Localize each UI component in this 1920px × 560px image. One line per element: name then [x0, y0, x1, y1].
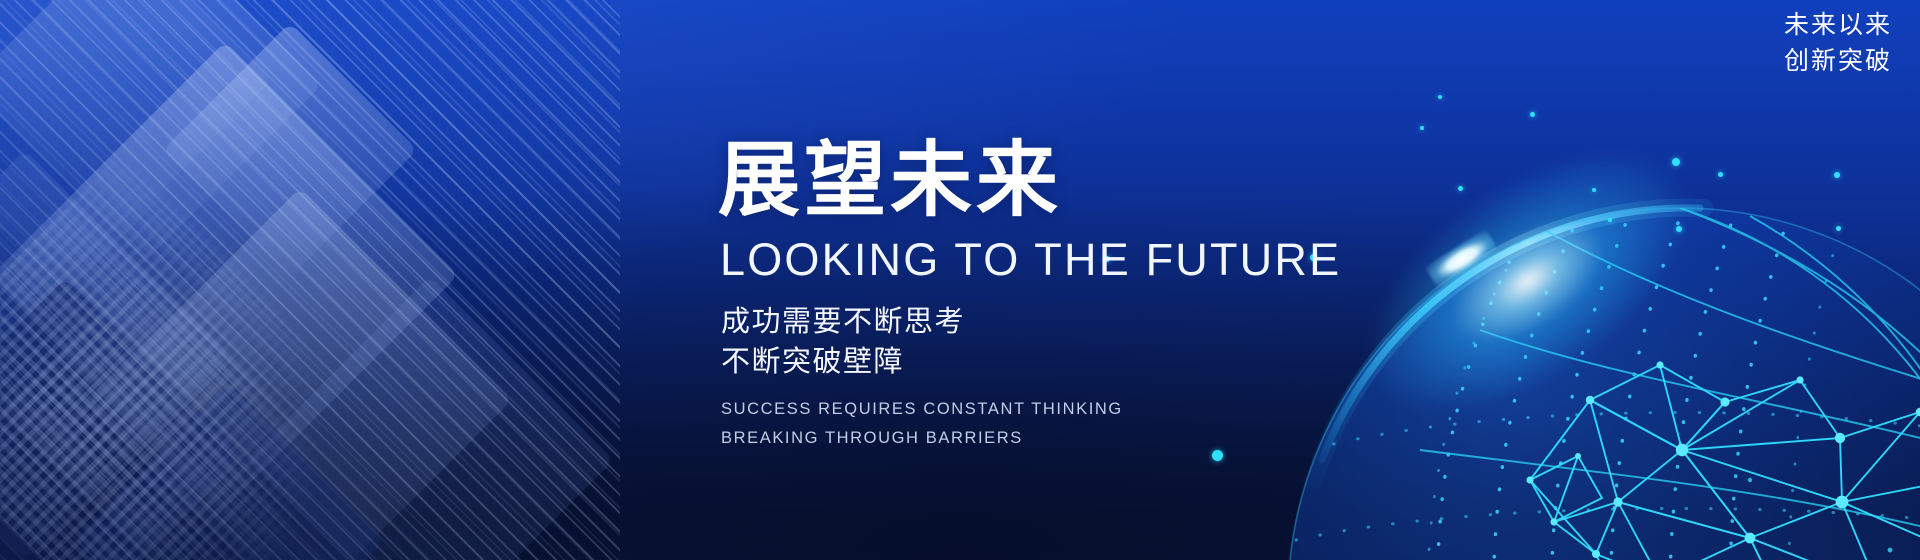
diagonal-geometry-icon	[0, 0, 620, 560]
subheadline-english-line1: SUCCESS REQUIRES CONSTANT THINKING	[721, 395, 1478, 423]
headline-block: 展望未来 LOOKING TO THE FUTURE 成功需要不断思考 不断突破…	[718, 138, 1478, 452]
corner-tagline-line1: 未来以来	[1784, 8, 1892, 44]
corner-tagline: 未来以来 创新突破	[1784, 8, 1892, 79]
headline-english: LOOKING TO THE FUTURE	[720, 233, 1478, 288]
subheadline-chinese: 成功需要不断思考 不断突破壁障	[721, 302, 1478, 382]
subheadline-english: SUCCESS REQUIRES CONSTANT THINKING BREAK…	[721, 395, 1478, 452]
subheadline-chinese-line2: 不断突破壁障	[721, 342, 1478, 382]
hairline-stripes-secondary-icon	[0, 0, 620, 560]
subheadline-chinese-line1: 成功需要不断思考	[721, 302, 1478, 342]
page-title: 展望未来	[718, 138, 1478, 223]
subheadline-english-line2: BREAKING THROUGH BARRIERS	[721, 424, 1478, 452]
corner-tagline-line2: 创新突破	[1784, 44, 1892, 80]
promo-banner: 展望未来 LOOKING TO THE FUTURE 成功需要不断思考 不断突破…	[0, 0, 1920, 560]
